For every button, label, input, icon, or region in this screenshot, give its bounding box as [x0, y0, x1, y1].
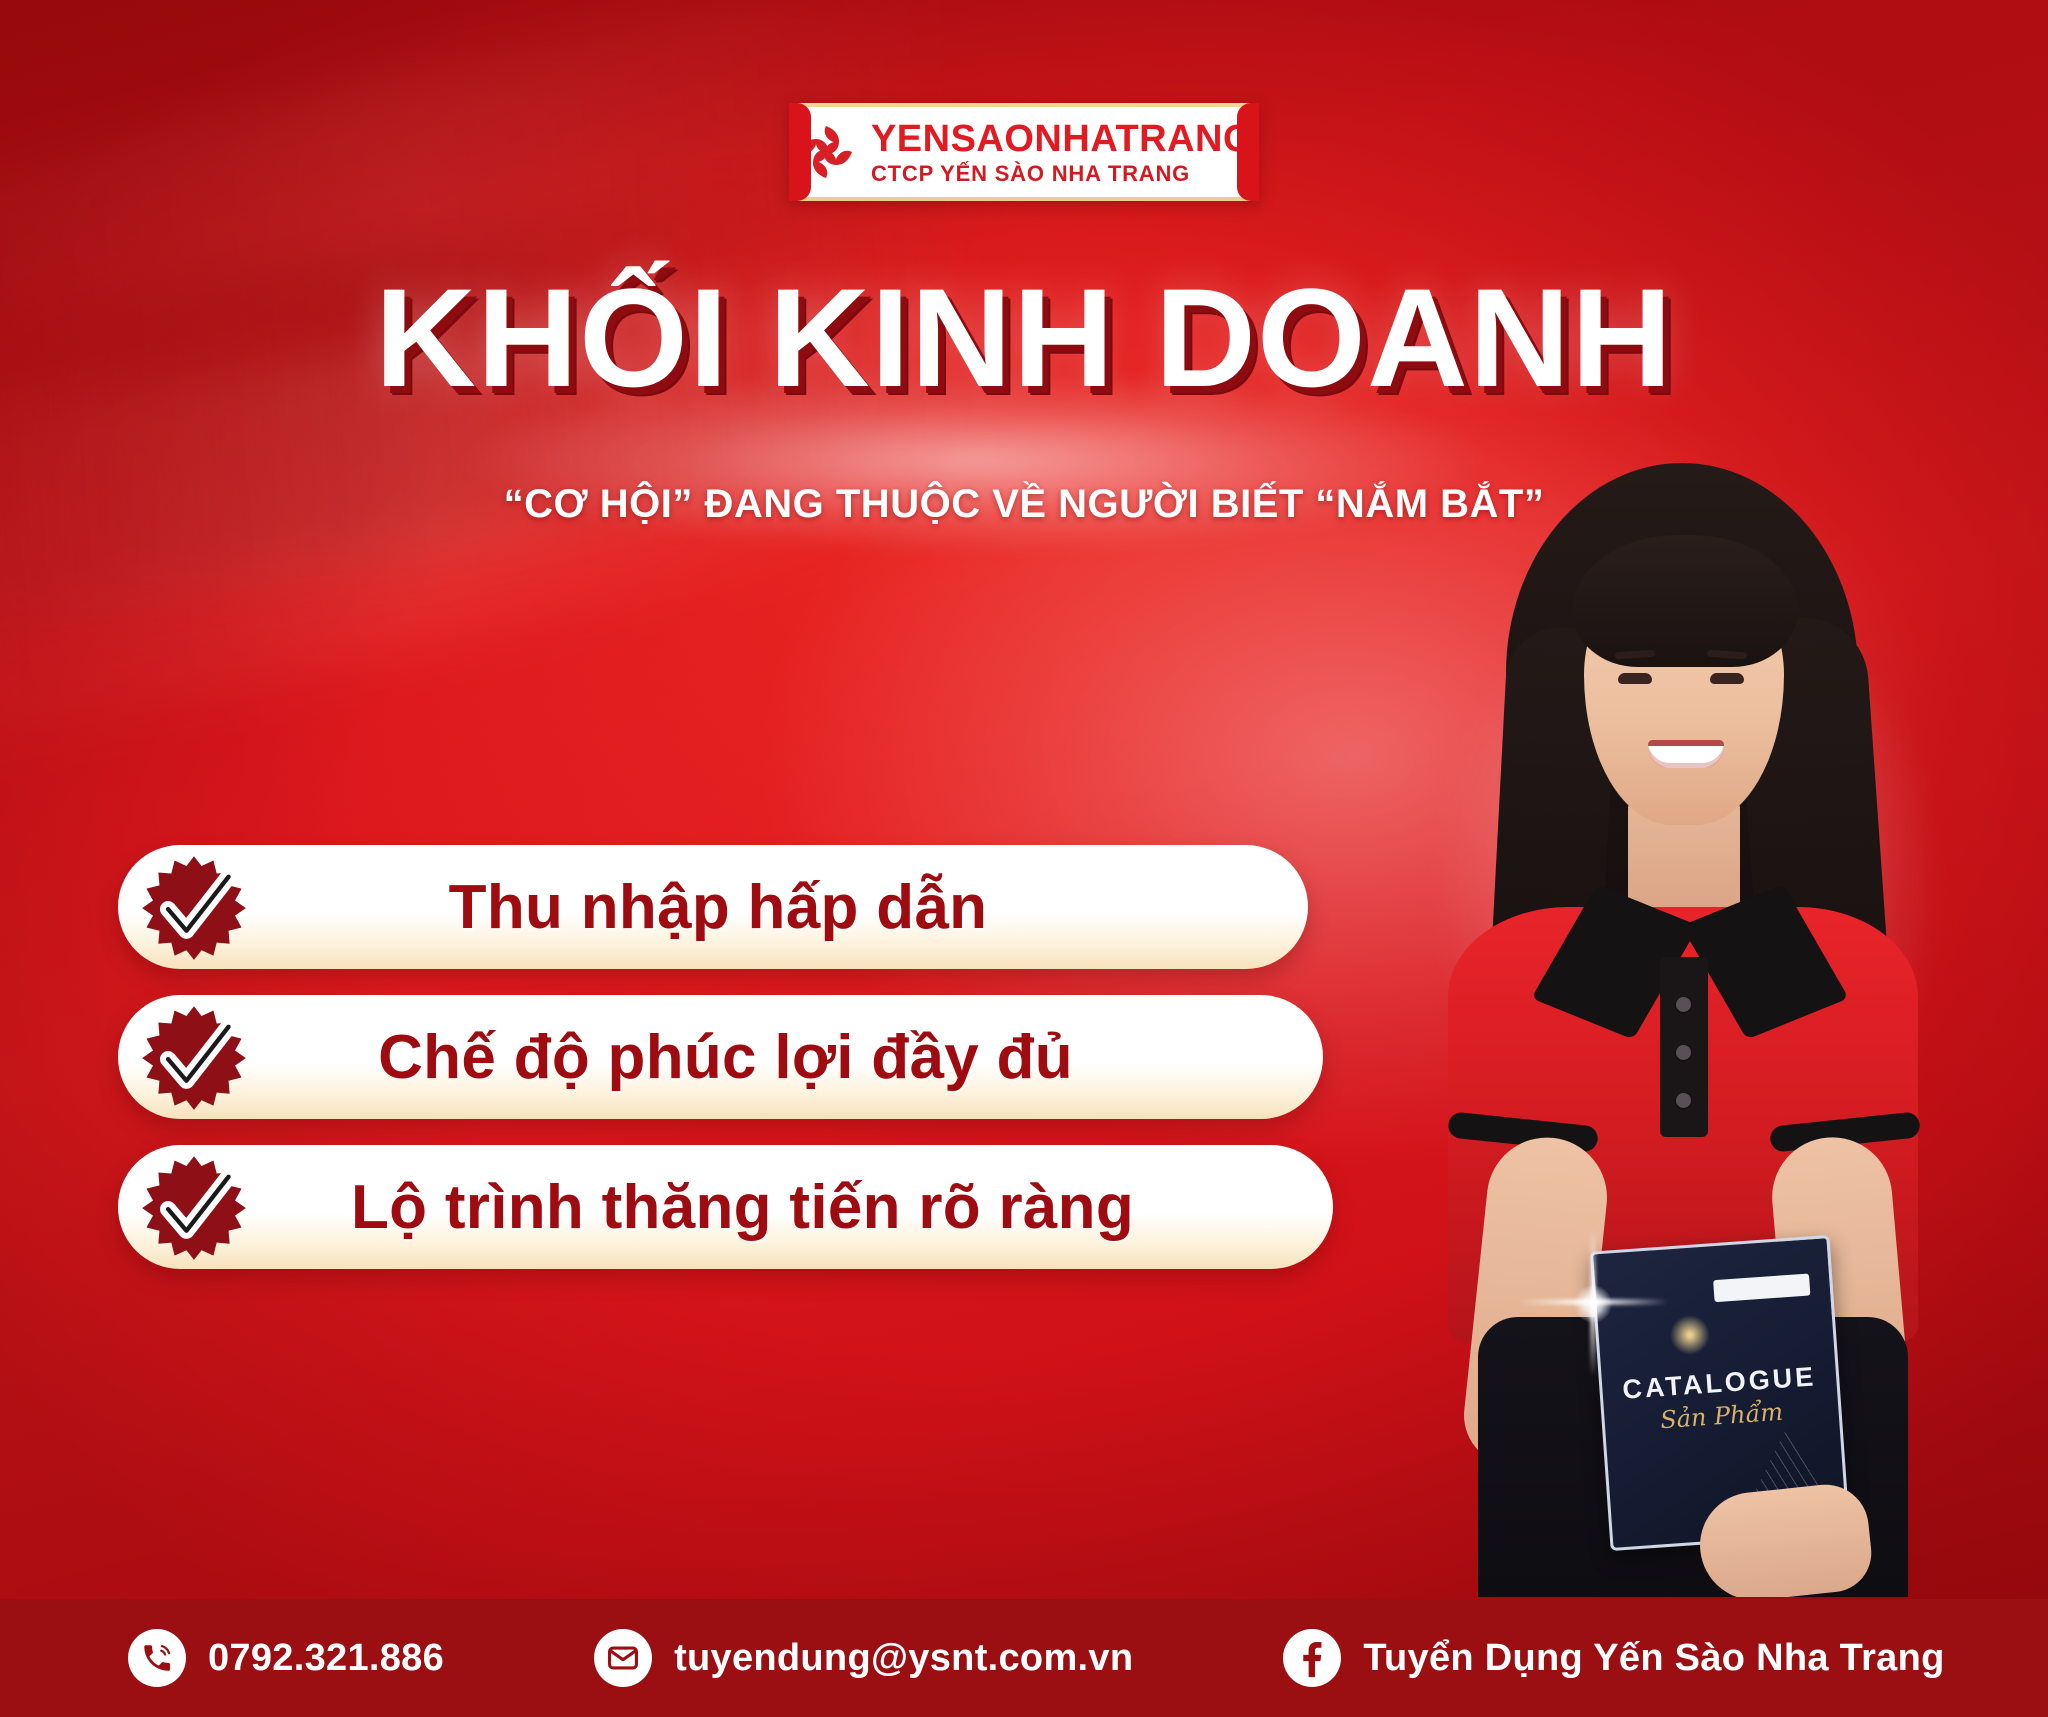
check-badge-icon [140, 1003, 248, 1111]
benefit-label: Chế độ phúc lợi đầy đủ [248, 1022, 1323, 1093]
check-badge-icon [140, 853, 248, 961]
phone-number: 0792.321.886 [208, 1637, 444, 1680]
contact-facebook[interactable]: Tuyển Dụng Yến Sào Nha Trang [1283, 1629, 1944, 1687]
model-fringe [1572, 535, 1798, 667]
model-eye-right [1710, 673, 1744, 684]
model-shirt-button [1676, 997, 1691, 1012]
contact-phone[interactable]: 0792.321.886 [128, 1629, 444, 1687]
list-item: Chế độ phúc lợi đầy đủ [118, 995, 1323, 1119]
logo-company-name: CTCP YẾN SÀO NHA TRANG [871, 163, 1190, 185]
recruitment-poster: YENSAONHATRANG CTCP YẾN SÀO NHA TRANG KH… [0, 0, 2048, 1717]
facebook-page-name: Tuyển Dụng Yến Sào Nha Trang [1363, 1637, 1944, 1680]
logo-text-block: YENSAONHATRANG CTCP YẾN SÀO NHA TRANG [871, 120, 1253, 185]
check-badge-icon [140, 1153, 248, 1261]
catalogue-logo-label [1713, 1274, 1810, 1303]
contact-email[interactable]: tuyendung@ysnt.com.vn [594, 1629, 1133, 1687]
model-photo: CATALOGUE Sản Phẩm [1328, 437, 2048, 1597]
model-eye-left [1618, 673, 1652, 684]
swirl-bird-nest-logo-icon [795, 121, 857, 183]
model-smile [1648, 740, 1724, 768]
lens-flare-core [1574, 1285, 1612, 1323]
model-shirt-button [1676, 1045, 1691, 1060]
list-item: Lộ trình thăng tiến rõ ràng [118, 1145, 1333, 1269]
benefit-label: Thu nhập hấp dẫn [248, 872, 1308, 943]
email-address: tuyendung@ysnt.com.vn [674, 1637, 1133, 1680]
page-title: KHỐI KINH DOANH [0, 268, 2048, 408]
email-icon [594, 1629, 652, 1687]
company-logo-plaque: YENSAONHATRANG CTCP YẾN SÀO NHA TRANG [789, 103, 1259, 201]
catalogue-sparkle-decoration [1653, 1298, 1728, 1373]
benefit-label: Lộ trình thăng tiến rõ ràng [248, 1172, 1333, 1243]
benefits-list: Thu nhập hấp dẫn Chế độ phúc lợi đầy đủ [118, 845, 1363, 1269]
phone-icon [128, 1629, 186, 1687]
model-shirt-button [1676, 1093, 1691, 1108]
list-item: Thu nhập hấp dẫn [118, 845, 1308, 969]
logo-brand-name: YENSAONHATRANG [871, 120, 1253, 158]
facebook-icon [1283, 1629, 1341, 1687]
footer-contact-bar: 0792.321.886 tuyendung@ysnt.com.vn Tuyển… [0, 1599, 2048, 1717]
